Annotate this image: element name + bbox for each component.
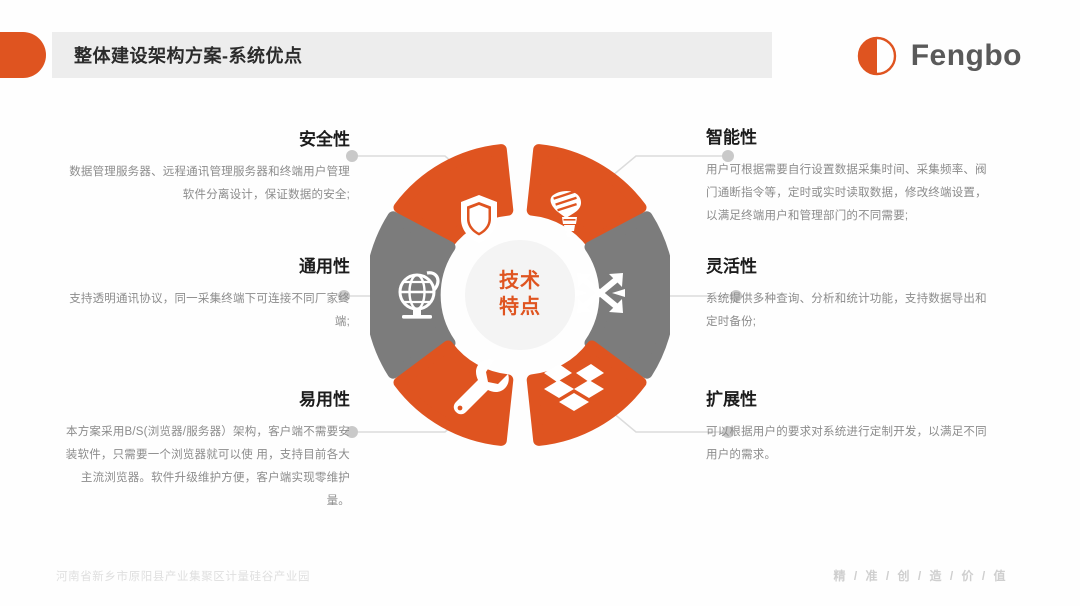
feature-body-usability: 本方案采用B/S(浏览器/服务器）架构，客户端不需要安装软件，只需要一个浏览器就… — [62, 421, 350, 513]
brand-name: Fengbo — [911, 39, 1022, 73]
shield-icon — [461, 195, 497, 243]
header-accent-tab — [0, 32, 46, 78]
feature-title-intelligence: 智能性 — [706, 128, 994, 148]
feature-title-usability: 易用性 — [62, 390, 350, 410]
feature-body-extensibility: 可以根据用户的要求对系统进行定制开发，以满足不同用户的需求。 — [706, 421, 994, 467]
footer-address: 河南省新乡市原阳县产业集聚区计量硅谷产业园 — [56, 568, 310, 584]
feature-block-intelligence: 智能性 用户可根据需要自行设置数据采集时间、采集频率、阀门通断指令等，定时或实时… — [706, 128, 994, 228]
brand-logo: Fengbo — [857, 36, 1022, 76]
technical-features-donut: 技术 特点 — [370, 140, 670, 450]
slide-canvas: 整体建设架构方案-系统优点 Fengbo — [0, 0, 1080, 606]
feature-body-flexibility: 系统提供多种查询、分析和统计功能，支持数据导出和定时备份; — [706, 288, 994, 334]
feature-block-security: 安全性 数据管理服务器、远程通讯管理服务器和终端用户管理软件分离设计，保证数据的… — [62, 130, 350, 207]
feature-block-generality: 通用性 支持透明通讯协议，同一采集终端下可连接不同厂家终端; — [62, 257, 350, 334]
center-label-line1: 技术 — [499, 269, 541, 295]
page-title: 整体建设架构方案-系统优点 — [74, 32, 303, 78]
center-label: 技术 特点 — [465, 240, 575, 350]
feature-block-usability: 易用性 本方案采用B/S(浏览器/服务器）架构，客户端不需要安装软件，只需要一个… — [62, 390, 350, 513]
feature-block-extensibility: 扩展性 可以根据用户的要求对系统进行定制开发，以满足不同用户的需求。 — [706, 390, 994, 467]
feature-title-security: 安全性 — [62, 130, 350, 150]
center-label-line2: 特点 — [499, 295, 541, 321]
footer-slogan: 精 / 准 / 创 / 造 / 价 / 值 — [833, 567, 1008, 584]
feature-title-extensibility: 扩展性 — [706, 390, 994, 410]
feature-body-generality: 支持透明通讯协议，同一采集终端下可连接不同厂家终端; — [62, 288, 350, 334]
feature-title-generality: 通用性 — [62, 257, 350, 277]
feature-body-intelligence: 用户可根据需要自行设置数据采集时间、采集频率、阀门通断指令等，定时或实时读取数据… — [706, 159, 994, 228]
feature-block-flexibility: 灵活性 系统提供多种查询、分析和统计功能，支持数据导出和定时备份; — [706, 257, 994, 334]
feature-title-flexibility: 灵活性 — [706, 257, 994, 277]
fengbo-half-circle-logo-icon — [857, 36, 897, 76]
feature-body-security: 数据管理服务器、远程通讯管理服务器和终端用户管理软件分离设计，保证数据的安全; — [62, 161, 350, 207]
